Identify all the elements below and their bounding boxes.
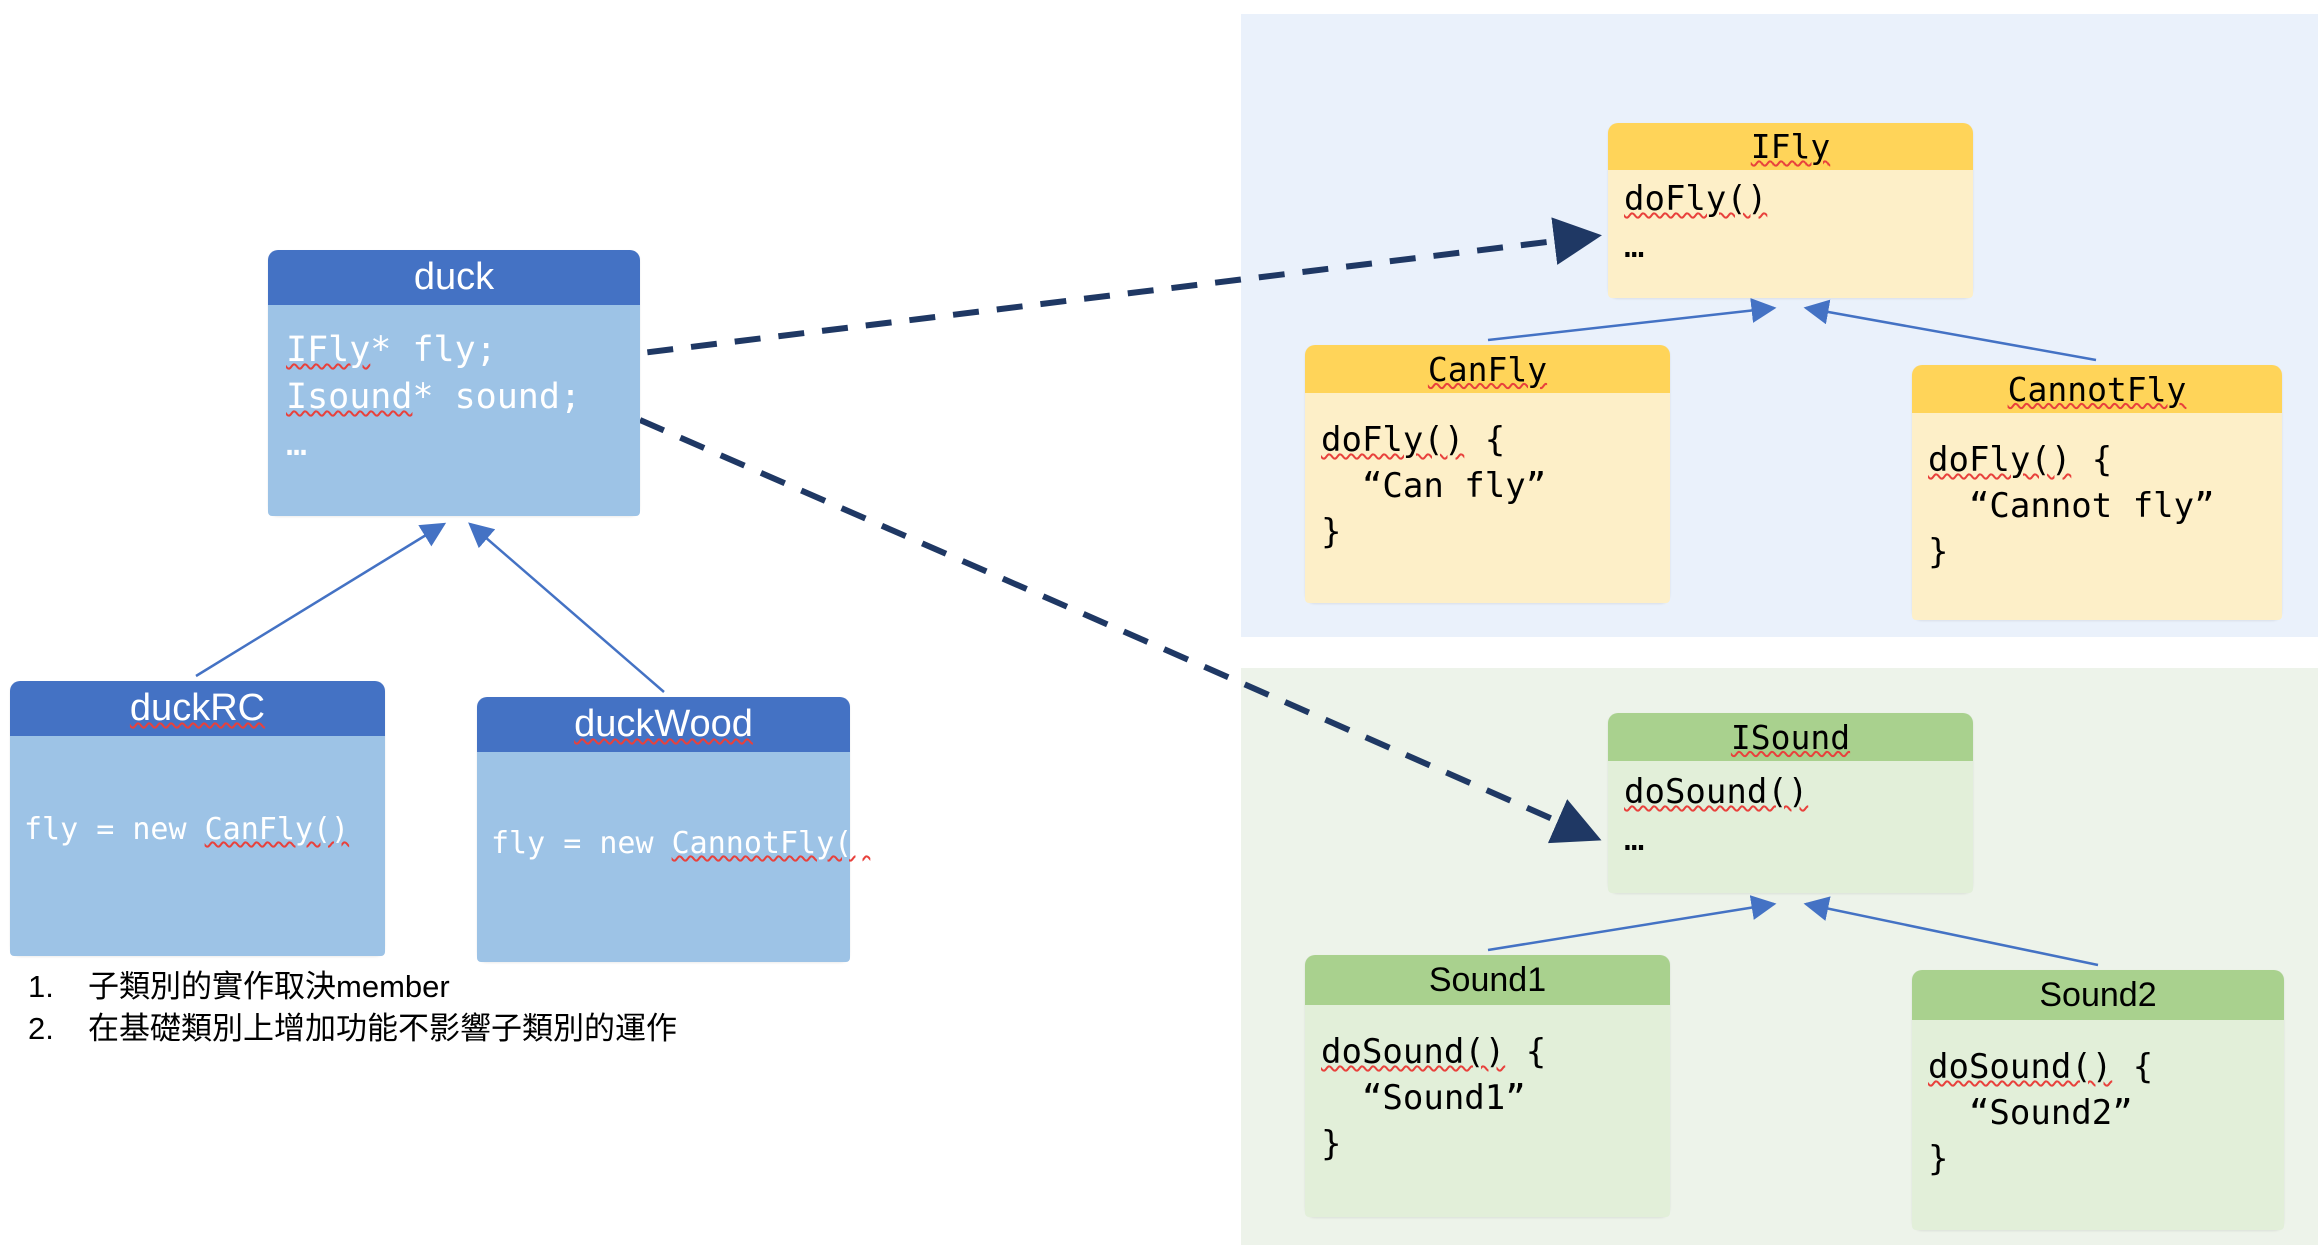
- member-type-isound: Isound: [286, 377, 412, 417]
- class-title-canfly: CanFly: [1305, 345, 1670, 393]
- class-title-isound: ISound: [1608, 713, 1973, 761]
- list-item: 2. 在基礎類別上增加功能不影響子類別的運作: [28, 1008, 828, 1050]
- cannotfly-open-brace: {: [2071, 440, 2112, 480]
- class-box-ifly[interactable]: IFly doFly() …: [1608, 123, 1973, 298]
- sound2-open-brace: {: [2112, 1047, 2153, 1087]
- class-box-sound2[interactable]: Sound2 doSound() { “Sound2” }: [1912, 970, 2284, 1230]
- class-box-cannotfly[interactable]: CannotFly doFly() { “Cannot fly” }: [1912, 365, 2282, 620]
- member-ellipsis-isound: …: [1624, 819, 1646, 859]
- class-title-cannotfly: CannotFly: [1912, 365, 2282, 413]
- duckrc-assign-canfly: CanFly(): [205, 812, 350, 847]
- duckwood-assign-cannotfly: CannotFly(): [672, 826, 871, 861]
- class-box-canfly[interactable]: CanFly doFly() { “Can fly” }: [1305, 345, 1670, 603]
- cannotfly-close-brace: }: [1928, 532, 1948, 572]
- class-title-ifly-text: IFly: [1751, 127, 1830, 166]
- class-title-sound2: Sound2: [1912, 970, 2284, 1020]
- notes-list: 1. 子類別的實作取決member 2. 在基礎類別上增加功能不影響子類別的運作: [28, 966, 828, 1050]
- class-title-isound-text: ISound: [1731, 718, 1850, 757]
- note-number: 1.: [28, 966, 88, 1008]
- cannotfly-return-string: “Cannot fly”: [1928, 486, 2215, 526]
- duckwood-assign-pre: fly = new: [491, 826, 672, 861]
- note-text: 在基礎類別上增加功能不影響子類別的運作: [88, 1008, 677, 1050]
- class-title-duckwood: duckWood: [477, 697, 850, 752]
- diagram-canvas: duck IFly* fly; Isound* sound; … duckRC …: [0, 0, 2318, 1258]
- canfly-return-string: “Can fly”: [1321, 466, 1546, 506]
- canfly-open-brace: {: [1464, 420, 1505, 460]
- class-members-ifly: doFly() …: [1608, 170, 1973, 298]
- duckrc-assign-pre: fly = new: [24, 812, 205, 847]
- class-box-duckrc[interactable]: duckRC fly = new CanFly(): [10, 681, 385, 956]
- method-dofly-ifly: doFly(): [1624, 179, 1767, 219]
- sound1-return-string: “Sound1”: [1321, 1078, 1526, 1118]
- member-ellipsis-duck: …: [286, 424, 309, 464]
- class-title-duck: duck: [268, 250, 640, 305]
- sound1-close-brace: }: [1321, 1124, 1341, 1164]
- list-item: 1. 子類別的實作取決member: [28, 966, 828, 1008]
- link-duckrc-duck: [196, 524, 444, 676]
- sound1-open-brace: {: [1505, 1032, 1546, 1072]
- class-title-duckrc-text: duckRC: [130, 687, 265, 730]
- method-dosound-sound2: doSound(): [1928, 1047, 2112, 1087]
- class-box-isound[interactable]: ISound doSound() …: [1608, 713, 1973, 893]
- link-duckwood-duck: [470, 524, 664, 692]
- note-number: 2.: [28, 1008, 88, 1050]
- class-members-duck: IFly* fly; Isound* sound; …: [268, 305, 640, 516]
- note-text: 子類別的實作取決member: [88, 966, 450, 1008]
- class-members-canfly: doFly() { “Can fly” }: [1305, 393, 1670, 603]
- class-box-sound1[interactable]: Sound1 doSound() { “Sound1” }: [1305, 955, 1670, 1217]
- class-members-cannotfly: doFly() { “Cannot fly” }: [1912, 413, 2282, 620]
- class-members-isound: doSound() …: [1608, 761, 1973, 893]
- member-name-fly: * fly;: [370, 330, 496, 370]
- method-dosound-isound: doSound(): [1624, 772, 1808, 812]
- class-title-ifly: IFly: [1608, 123, 1973, 170]
- sound2-return-string: “Sound2”: [1928, 1093, 2133, 1133]
- class-title-sound1: Sound1: [1305, 955, 1670, 1005]
- class-box-duckwood[interactable]: duckWood fly = new CannotFly(): [477, 697, 850, 962]
- class-title-canfly-text: CanFly: [1428, 350, 1547, 389]
- method-dofly-canfly: doFly(): [1321, 420, 1464, 460]
- class-title-duckwood-text: duckWood: [574, 703, 753, 746]
- class-box-duck[interactable]: duck IFly* fly; Isound* sound; …: [268, 250, 640, 516]
- class-members-duckwood: fly = new CannotFly(): [477, 752, 850, 962]
- class-title-cannotfly-text: CannotFly: [2008, 370, 2187, 409]
- class-title-duckrc: duckRC: [10, 681, 385, 736]
- member-type-ifly: IFly: [286, 330, 370, 370]
- class-members-sound2: doSound() { “Sound2” }: [1912, 1020, 2284, 1230]
- method-dosound-sound1: doSound(): [1321, 1032, 1505, 1072]
- class-members-sound1: doSound() { “Sound1” }: [1305, 1005, 1670, 1217]
- sound2-close-brace: }: [1928, 1139, 1948, 1179]
- class-members-duckrc: fly = new CanFly(): [10, 736, 385, 956]
- member-ellipsis-ifly: …: [1624, 226, 1646, 266]
- method-dofly-cannotfly: doFly(): [1928, 440, 2071, 480]
- member-name-sound: * sound;: [412, 377, 581, 417]
- canfly-close-brace: }: [1321, 512, 1341, 552]
